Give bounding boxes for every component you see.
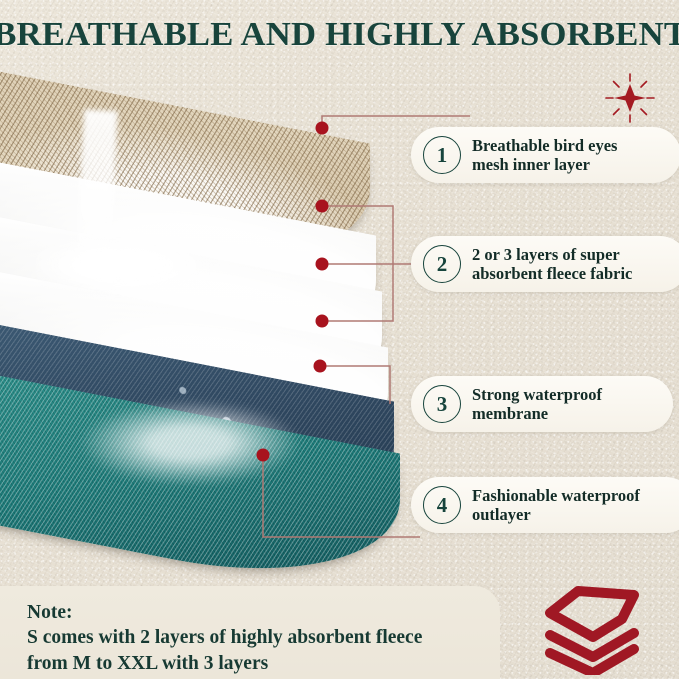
callout-text-4: Fashionable waterproof outlayer [472,486,640,524]
callout-number-1: 1 [423,136,461,174]
callout-1[interactable]: 1 Breathable bird eyes mesh inner layer [411,127,679,183]
fabric-layer-illustration [0,58,400,528]
callout-number-2: 2 [423,245,461,283]
note-text: Note: S comes with 2 layers of highly ab… [27,600,422,676]
infographic-canvas: BREATHABLE AND HIGHLY ABSORBENT [0,0,679,679]
callout-4[interactable]: 4 Fashionable waterproof outlayer [411,477,679,533]
callout-number-3: 3 [423,385,461,423]
callout-text-1: Breathable bird eyes mesh inner layer [472,136,617,174]
callout-3[interactable]: 3 Strong waterproof membrane [411,376,673,432]
note-panel: Note: S comes with 2 layers of highly ab… [0,586,500,679]
sparkle-icon [604,72,656,124]
callout-text-3: Strong waterproof membrane [472,385,602,423]
layered-stack-icon [538,583,648,675]
callout-2[interactable]: 2 2 or 3 layers of super absorbent fleec… [411,236,679,292]
callout-text-2: 2 or 3 layers of super absorbent fleece … [472,245,632,283]
page-title: BREATHABLE AND HIGHLY ABSORBENT [0,16,679,54]
callout-number-4: 4 [423,486,461,524]
